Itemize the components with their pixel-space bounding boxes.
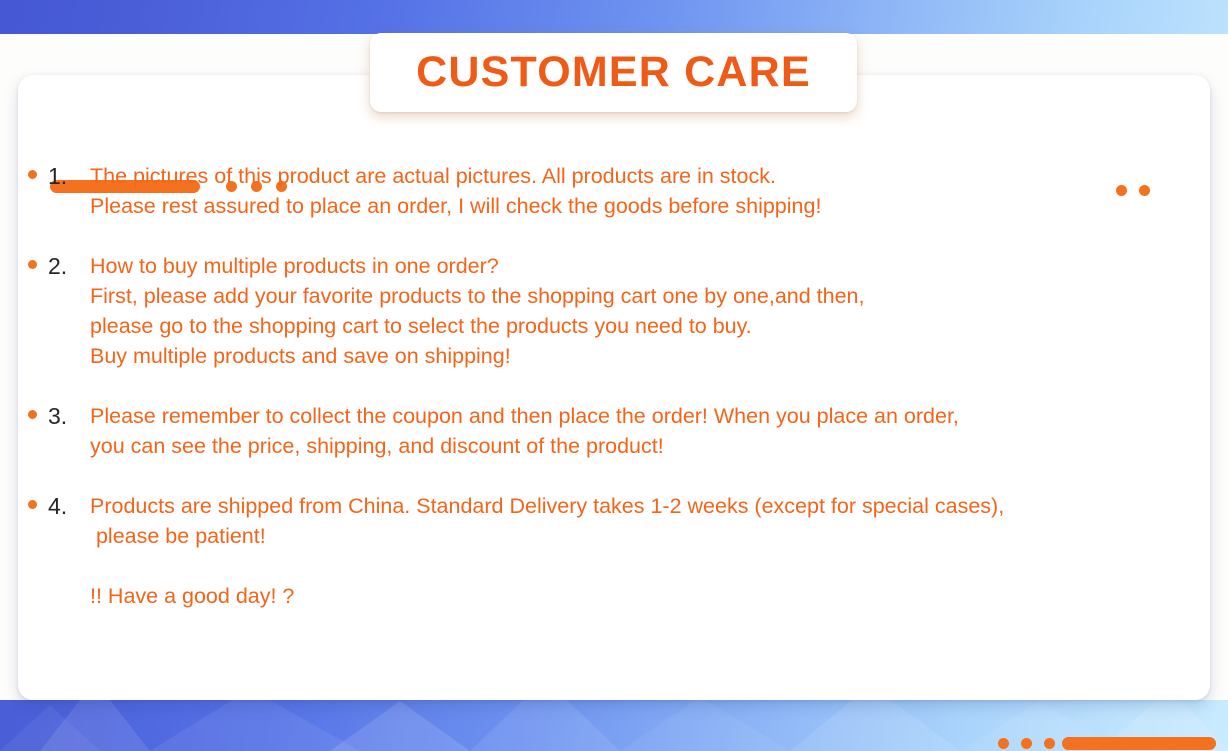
list-item-body: Please remember to collect the coupon an… bbox=[90, 401, 1208, 461]
list-item-line: First, please add your favorite products… bbox=[90, 281, 1208, 311]
list-item-body: The pictures of this product are actual … bbox=[90, 161, 1208, 221]
content-area: 1. The pictures of this product are actu… bbox=[18, 75, 1210, 700]
list-item-line: Please rest assured to place an order, I… bbox=[90, 191, 1208, 221]
decor-dot bbox=[1021, 738, 1032, 749]
list-item-number: 4. bbox=[48, 491, 67, 521]
bullet-dot-icon bbox=[28, 260, 37, 269]
list-item-line: How to buy multiple products in one orde… bbox=[90, 251, 1208, 281]
list-item: 1. The pictures of this product are actu… bbox=[28, 161, 1208, 221]
list-item: 2. How to buy multiple products in one o… bbox=[28, 251, 1208, 371]
list-item-line: Buy multiple products and save on shippi… bbox=[90, 341, 1208, 371]
list-item-body: Products are shipped from China. Standar… bbox=[90, 491, 1208, 551]
list-item-line: The pictures of this product are actual … bbox=[90, 161, 1208, 191]
list-item-line: Please remember to collect the coupon an… bbox=[90, 401, 1208, 431]
list-item-marker: 4. bbox=[28, 491, 90, 521]
policy-list: 1. The pictures of this product are actu… bbox=[28, 161, 1208, 611]
list-item-marker: 1. bbox=[28, 161, 90, 191]
closing-message: !! Have a good day! ? bbox=[90, 581, 1208, 611]
list-item-marker: 2. bbox=[28, 251, 90, 281]
bullet-dot-icon bbox=[28, 170, 37, 179]
bullet-dot-icon bbox=[28, 500, 37, 509]
list-item-body: How to buy multiple products in one orde… bbox=[90, 251, 1208, 371]
decor-dot bbox=[998, 738, 1009, 749]
screenshot-root: 1. The pictures of this product are actu… bbox=[0, 0, 1228, 751]
list-item-number: 3. bbox=[48, 401, 67, 431]
list-item-line: you can see the price, shipping, and dis… bbox=[90, 431, 1208, 461]
decor-bar-bottom-right bbox=[1062, 737, 1216, 750]
list-item-line: please go to the shopping cart to select… bbox=[90, 311, 1208, 341]
list-item: 4. Products are shipped from China. Stan… bbox=[28, 491, 1208, 551]
list-item-marker: 3. bbox=[28, 401, 90, 431]
list-item-number: 1. bbox=[48, 161, 67, 191]
decor-dots-bottom-right bbox=[998, 738, 1055, 749]
title-banner: CUSTOMER CARE bbox=[370, 33, 857, 112]
list-item-number: 2. bbox=[48, 251, 67, 281]
decor-dot bbox=[1044, 738, 1055, 749]
bullet-dot-icon bbox=[28, 410, 37, 419]
page-title: CUSTOMER CARE bbox=[416, 51, 811, 94]
list-item-line: please be patient! bbox=[90, 521, 1208, 551]
list-item-line: Products are shipped from China. Standar… bbox=[90, 491, 1208, 521]
list-item: 3. Please remember to collect the coupon… bbox=[28, 401, 1208, 461]
